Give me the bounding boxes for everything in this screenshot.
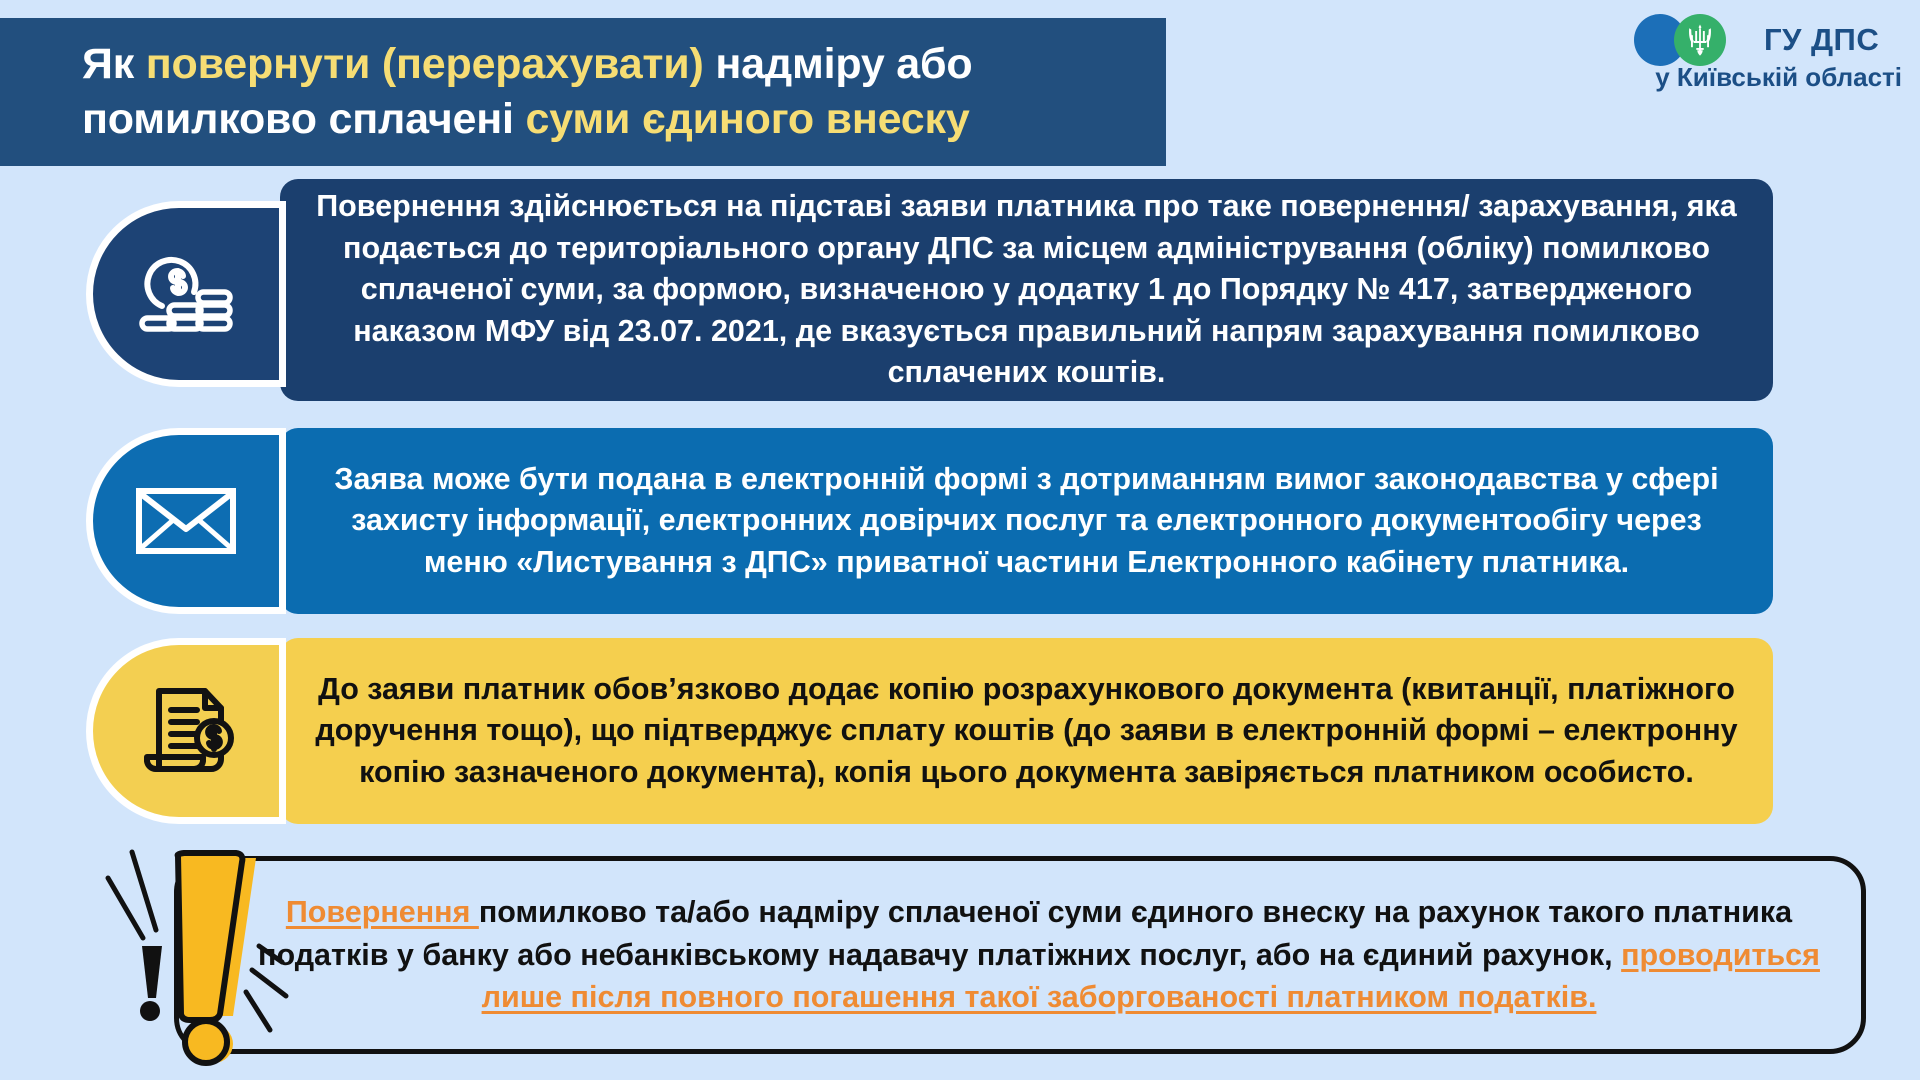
badge-invoice (86, 638, 286, 824)
ukraine-trident-icon (1687, 24, 1713, 56)
content-row-3: До заяви платник обов’язково додає копію… (86, 638, 1773, 824)
exclamation-mark-icon (96, 846, 306, 1080)
info-card-3: До заяви платник обов’язково додає копію… (280, 638, 1773, 824)
invoice-document-icon (133, 679, 239, 783)
coins-dollar-icon (132, 246, 240, 342)
organization-logo: ГУ ДПС у Київській області (1612, 10, 1902, 102)
info-card-1-text: Повернення здійснюється на підставі заяв… (310, 186, 1743, 393)
header-title-accent-b: суми єдиного внеску (526, 95, 970, 143)
logo-name-line-2: у Київській області (1612, 62, 1902, 93)
warning-callout: Повернення помилково та/або надміру спла… (174, 856, 1866, 1054)
callout-highlight-start: Повернення (286, 895, 479, 929)
header-banner: Як повернути (перерахувати) надміру або … (0, 18, 1166, 166)
header-title-line-2: помилково сплачені суми єдиного внеску (82, 92, 1166, 147)
badge-envelope (86, 428, 286, 614)
info-card-3-text: До заяви платник обов’язково додає копію… (310, 669, 1743, 793)
content-row-2: Заява може бути подана в електронній фор… (86, 428, 1773, 614)
content-row-1: Повернення здійснюється на підставі заяв… (86, 187, 1773, 401)
info-card-2-text: Заява може бути подана в електронній фор… (310, 459, 1743, 583)
envelope-icon (134, 483, 238, 559)
logo-name-line-1: ГУ ДПС (1764, 22, 1879, 58)
badge-coins (86, 201, 286, 387)
callout-plain-text: помилково та/або надміру сплаченої суми … (258, 895, 1792, 972)
header-title-accent-a: повернути (перерахувати) (146, 40, 704, 88)
header-title-plain-c: помилково сплачені (82, 95, 526, 143)
header-title-line-1: Як повернути (перерахувати) надміру або (82, 37, 1166, 92)
logo-circles (1634, 14, 1754, 66)
header-title-plain-a: Як (82, 40, 146, 88)
warning-callout-text: Повернення помилково та/або надміру спла… (257, 891, 1821, 1019)
info-card-1: Повернення здійснюється на підставі заяв… (280, 179, 1773, 401)
header-title-plain-b: надміру або (704, 40, 973, 88)
info-card-2: Заява може бути подана в електронній фор… (280, 428, 1773, 614)
